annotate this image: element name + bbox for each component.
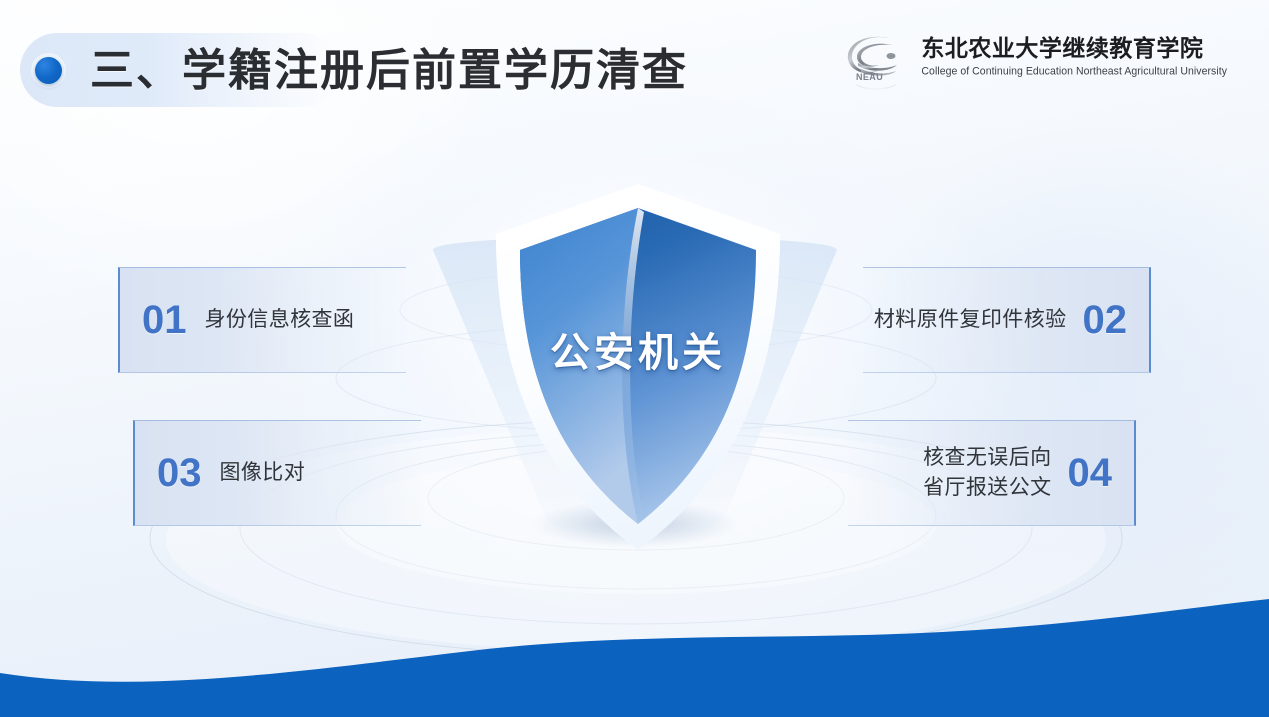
slide: 公安机关 01 身份信息核查函 材料原件复印件核验 02 03 图像比对 核查无…: [0, 0, 1269, 717]
item-number: 04: [1068, 453, 1113, 493]
neau-swirl-emblem-icon: NEAU: [845, 32, 911, 94]
item-number: 02: [1083, 300, 1128, 340]
logo-text-block: 东北农业大学继续教育学院 College of Continuing Educa…: [921, 32, 1227, 77]
item-box-03[interactable]: 03 图像比对: [133, 420, 421, 526]
shield-graphic: 公安机关: [488, 178, 788, 558]
item-box-02[interactable]: 材料原件复印件核验 02: [863, 267, 1151, 373]
item-box-04[interactable]: 核查无误后向 省厅报送公文 04: [848, 420, 1136, 526]
logo-lockup: NEAU 东北农业大学继续教育学院 College of Continuing …: [845, 32, 1227, 94]
blue-dot-icon: [35, 57, 62, 84]
item-box-01[interactable]: 01 身份信息核查函: [118, 267, 406, 373]
shield-icon: [488, 178, 788, 558]
item-label: 身份信息核查函: [205, 305, 355, 335]
item-number: 01: [142, 300, 187, 340]
item-label: 核查无误后向 省厅报送公文: [923, 443, 1051, 503]
logo-name-en: College of Continuing Education Northeas…: [921, 65, 1227, 78]
item-label: 材料原件复印件核验: [874, 305, 1067, 335]
svg-text:NEAU: NEAU: [856, 72, 883, 82]
bottom-wave-decoration: [0, 587, 1269, 717]
page-title: 三、学籍注册后前置学历清查: [90, 44, 688, 98]
background-glow-right: [829, 120, 1269, 640]
item-label: 图像比对: [220, 458, 306, 488]
logo-name-cn: 东北农业大学继续教育学院: [921, 35, 1227, 62]
item-number: 03: [157, 453, 202, 493]
